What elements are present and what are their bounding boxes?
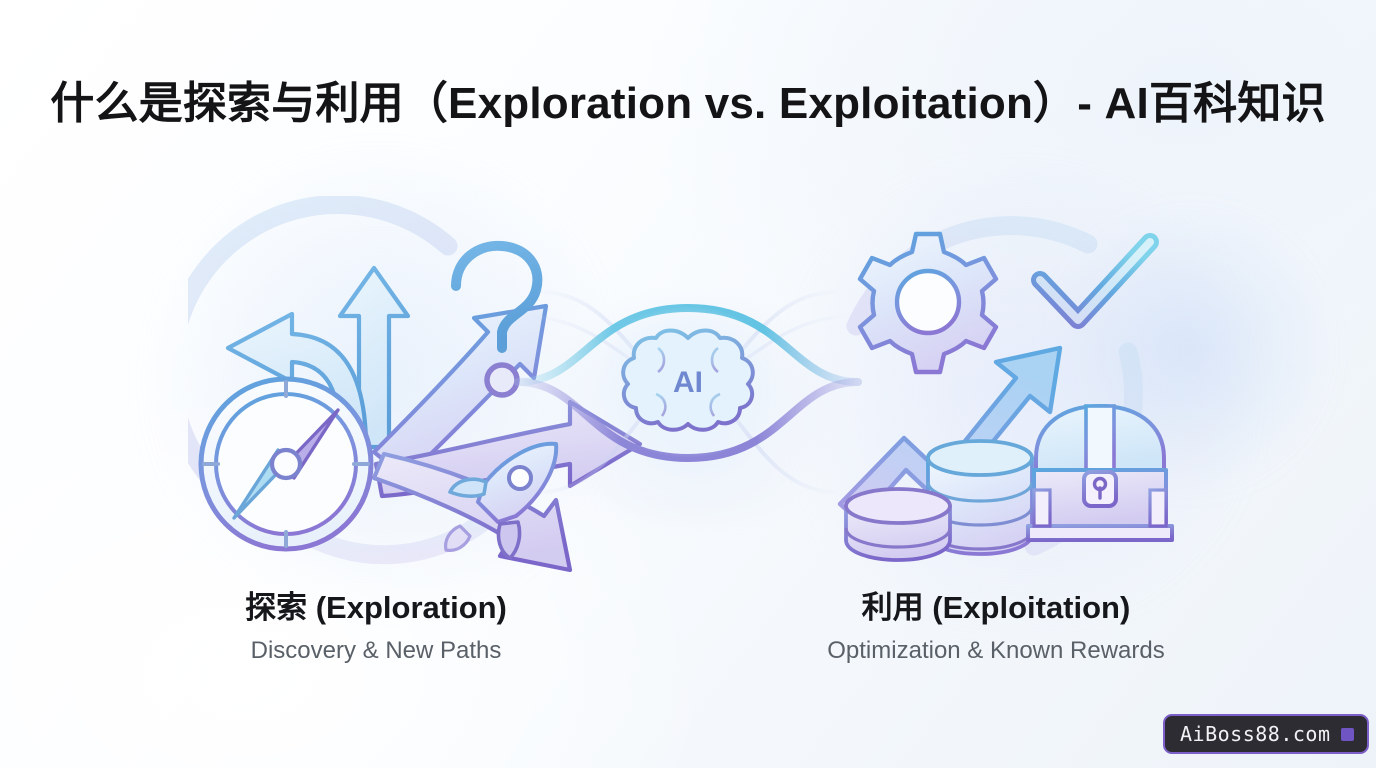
- exploration-group: [188, 204, 640, 570]
- exploitation-caption-title: 利用 (Exploitation): [796, 588, 1196, 628]
- compass-icon: [201, 379, 371, 549]
- watermark-square-icon: [1341, 728, 1354, 741]
- concept-illustration: AI: [188, 196, 1188, 576]
- gear-icon: [860, 234, 996, 372]
- coin-stack-icon: [846, 441, 1032, 560]
- watermark-text: AiBoss88.com: [1180, 722, 1331, 746]
- exploitation-group: [840, 226, 1172, 560]
- exploitation-caption: 利用 (Exploitation) Optimization & Known R…: [796, 588, 1196, 666]
- slide-canvas: 什么是探索与利用（Exploration vs. Exploitation）- …: [0, 0, 1376, 768]
- page-title: 什么是探索与利用（Exploration vs. Exploitation）- …: [0, 78, 1376, 131]
- checkmark-icon: [1040, 242, 1150, 320]
- exploration-caption: 探索 (Exploration) Discovery & New Paths: [176, 588, 576, 666]
- ai-brain-icon: AI: [623, 331, 753, 430]
- treasure-chest-icon: [1028, 406, 1172, 540]
- exploitation-caption-subtitle: Optimization & Known Rewards: [796, 636, 1196, 666]
- exploration-caption-subtitle: Discovery & New Paths: [176, 636, 576, 666]
- watermark-badge: AiBoss88.com: [1163, 714, 1369, 754]
- exploration-caption-title: 探索 (Exploration): [176, 588, 576, 628]
- ai-node-label: AI: [673, 366, 703, 399]
